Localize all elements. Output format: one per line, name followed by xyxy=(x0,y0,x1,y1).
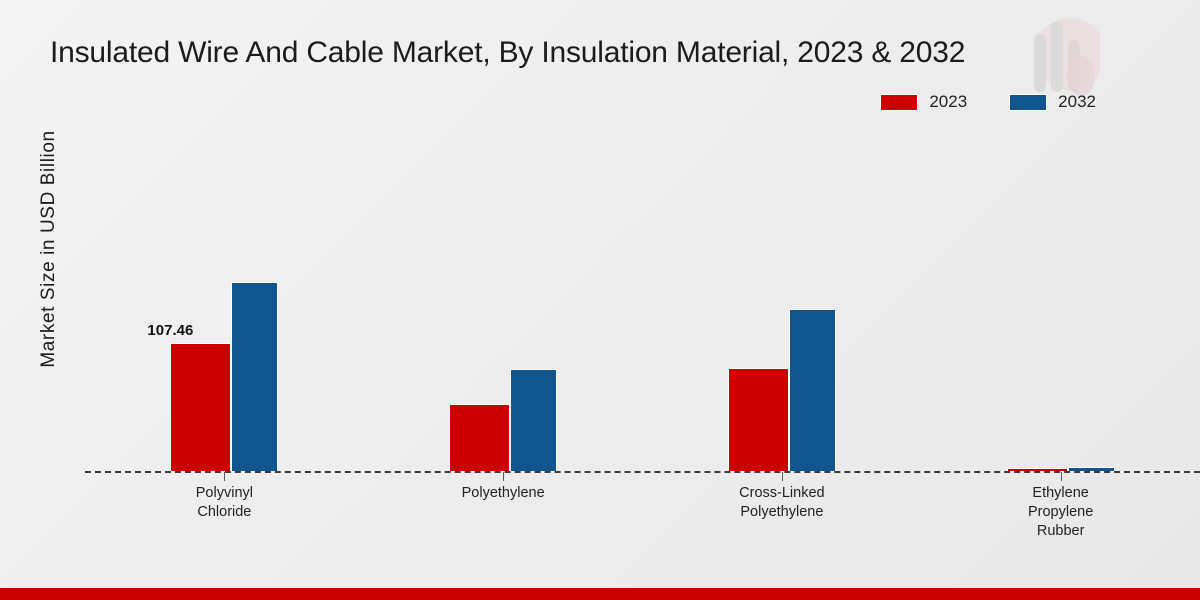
category-line: Rubber xyxy=(921,522,1200,541)
x-axis-baseline xyxy=(85,471,1200,473)
footer-accent-bar xyxy=(0,588,1200,600)
legend-swatch-2023 xyxy=(880,94,918,111)
legend-item-2032[interactable]: 2032 xyxy=(1009,92,1096,112)
chart-legend: 2023 2032 xyxy=(880,92,1096,112)
bar-group-polyethylene xyxy=(364,140,643,472)
category-line: Chloride xyxy=(85,503,364,522)
chart-title: Insulated Wire And Cable Market, By Insu… xyxy=(50,36,1140,70)
legend-item-2023[interactable]: 2023 xyxy=(880,92,967,112)
x-tick-ethylene-propylene-rubber xyxy=(1061,472,1062,481)
plot-area: 107.46 xyxy=(40,140,1180,480)
bar-groups: 107.46 xyxy=(85,140,1200,472)
bar-group-cross-linked-polyethylene xyxy=(643,140,922,472)
x-tick-cross-linked-polyethylene xyxy=(782,472,783,481)
bar-2023-polyvinyl-chloride[interactable] xyxy=(170,343,231,472)
category-label-cross-linked-polyethylene: Cross-Linked Polyethylene xyxy=(643,484,922,541)
category-line: Polyethylene xyxy=(643,503,922,522)
bar-2023-polyethylene[interactable] xyxy=(449,404,510,472)
x-axis-category-labels: Polyvinyl Chloride Polyethylene Cross-Li… xyxy=(85,484,1200,541)
category-label-ethylene-propylene-rubber: Ethylene Propylene Rubber xyxy=(921,484,1200,541)
category-label-polyethylene: Polyethylene xyxy=(364,484,643,541)
category-line: Propylene xyxy=(921,503,1200,522)
bar-2032-polyethylene[interactable] xyxy=(510,369,557,472)
legend-label-2032: 2032 xyxy=(1058,92,1096,112)
category-line: Cross-Linked xyxy=(643,484,922,503)
legend-label-2023: 2023 xyxy=(929,92,967,112)
bar-2032-polyvinyl-chloride[interactable] xyxy=(231,282,278,472)
bar-2023-cross-linked-polyethylene[interactable] xyxy=(728,368,789,472)
category-line: Polyvinyl xyxy=(85,484,364,503)
category-label-polyvinyl-chloride: Polyvinyl Chloride xyxy=(85,484,364,541)
category-line: Polyethylene xyxy=(364,484,643,503)
bar-group-ethylene-propylene-rubber xyxy=(921,140,1200,472)
bar-group-polyvinyl-chloride: 107.46 xyxy=(85,140,364,472)
category-line: Ethylene xyxy=(921,484,1200,503)
x-tick-polyvinyl-chloride xyxy=(224,472,225,481)
legend-swatch-2032 xyxy=(1009,94,1047,111)
bar-2032-cross-linked-polyethylene[interactable] xyxy=(789,309,836,472)
chart-slide: Insulated Wire And Cable Market, By Insu… xyxy=(0,0,1200,600)
x-tick-polyethylene xyxy=(503,472,504,481)
